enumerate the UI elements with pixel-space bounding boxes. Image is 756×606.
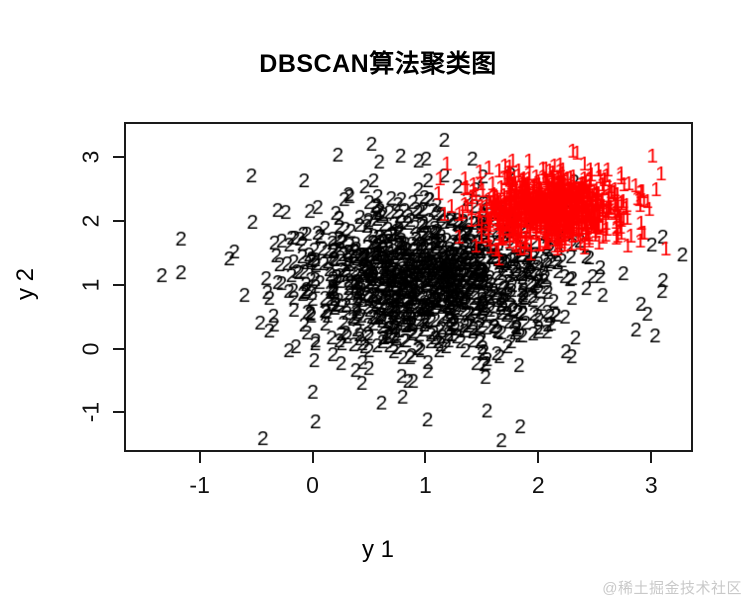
x-axis-label: y 1	[0, 536, 756, 564]
y-tick-mark	[113, 156, 124, 158]
x-tick-label: 2	[532, 472, 545, 499]
y-tick-mark	[113, 220, 124, 222]
y-tick-label: 2	[78, 206, 105, 236]
y-tick-label: -1	[78, 397, 105, 427]
watermark: @稀土掘金技术社区	[602, 577, 742, 598]
y-tick-label: 0	[78, 334, 105, 364]
x-tick-label: 0	[306, 472, 319, 499]
x-tick-mark	[424, 452, 426, 463]
dbscan-cluster-plot: DBSCAN算法聚类图 -10123 -10123 y 1 y 2 @稀土掘金技…	[0, 0, 756, 606]
x-tick-mark	[312, 452, 314, 463]
page-title: DBSCAN算法聚类图	[0, 44, 756, 80]
x-tick-label: -1	[189, 472, 209, 499]
y-tick-label: 3	[78, 142, 105, 172]
x-tick-label: 1	[419, 472, 432, 499]
y-tick-label: 1	[78, 270, 105, 300]
plot-area	[124, 122, 693, 452]
x-tick-mark	[650, 452, 652, 463]
y-tick-mark	[113, 411, 124, 413]
scatter-canvas	[126, 124, 691, 450]
x-tick-label: 3	[645, 472, 658, 499]
y-axis-label: y 2	[12, 256, 40, 312]
y-tick-mark	[113, 284, 124, 286]
y-tick-mark	[113, 348, 124, 350]
x-tick-mark	[537, 452, 539, 463]
x-tick-mark	[199, 452, 201, 463]
